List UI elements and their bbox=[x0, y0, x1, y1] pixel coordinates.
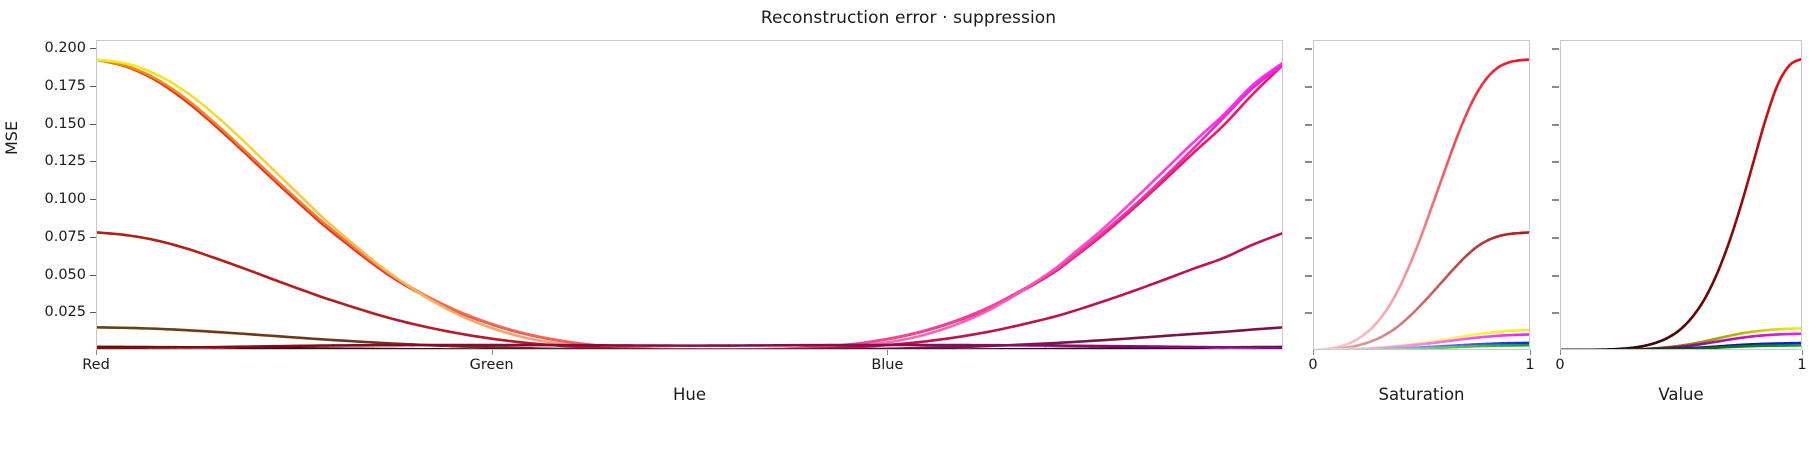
curve-segment bbox=[291, 286, 329, 300]
curve-segment bbox=[175, 330, 215, 332]
curve-segment bbox=[1701, 293, 1708, 305]
curve-segment bbox=[1411, 249, 1416, 261]
x-tick-label: Blue bbox=[871, 357, 903, 373]
y-tick-label: 0.150 bbox=[44, 116, 86, 132]
x-tick-mark bbox=[1802, 350, 1803, 355]
curve-segment bbox=[466, 318, 509, 333]
y-tick-mark-minor bbox=[1552, 124, 1559, 126]
curve-segment bbox=[141, 68, 182, 89]
curve-segment bbox=[215, 347, 255, 348]
curve-segment bbox=[333, 340, 373, 342]
x-tick-label: 0 bbox=[1308, 357, 1317, 373]
curve-segment bbox=[1505, 61, 1518, 64]
curve-segment bbox=[1085, 339, 1125, 342]
y-tick-label: 0.200 bbox=[44, 40, 86, 56]
curve-segment bbox=[1247, 65, 1283, 93]
curve-segment bbox=[1388, 296, 1395, 307]
curve-segment bbox=[176, 245, 215, 258]
curve-segment bbox=[1456, 127, 1461, 139]
curve-segment bbox=[1395, 285, 1401, 297]
curve-segment bbox=[253, 272, 291, 286]
curve-segment bbox=[426, 297, 467, 318]
x-tick-label: 1 bbox=[1797, 357, 1806, 373]
y-tick-label: 0.175 bbox=[44, 78, 86, 94]
y-tick-mark-minor bbox=[1552, 161, 1559, 163]
value-curves bbox=[1560, 40, 1802, 350]
curve-segment bbox=[1762, 117, 1766, 131]
y-tick-mark-minor bbox=[1305, 86, 1312, 88]
y-tick-mark-minor bbox=[1305, 237, 1312, 239]
y-tick-mark-minor bbox=[1305, 199, 1312, 201]
x-axis-title-saturation: Saturation bbox=[1378, 385, 1464, 404]
curve-segment bbox=[1421, 224, 1426, 236]
curve-segment bbox=[1683, 316, 1693, 326]
curve-segment bbox=[179, 94, 214, 123]
x-tick-label: 0 bbox=[1555, 357, 1564, 373]
curve-segment bbox=[282, 185, 316, 216]
curve-segment bbox=[388, 272, 426, 297]
x-tick-mark bbox=[887, 350, 888, 355]
curve-segment bbox=[927, 347, 967, 348]
curve-segment bbox=[1521, 232, 1530, 233]
curve-segment bbox=[330, 300, 369, 312]
curve-segment bbox=[215, 123, 249, 154]
y-tick-mark-minor bbox=[1305, 312, 1312, 314]
curve-segment bbox=[1517, 60, 1530, 61]
figure-title: Reconstruction error · suppression bbox=[0, 8, 1817, 28]
curve-segment bbox=[1693, 305, 1701, 317]
curve-segment bbox=[215, 332, 255, 335]
curve-segment bbox=[1406, 261, 1411, 273]
x-axis-title-value: Value bbox=[1658, 385, 1703, 404]
x-tick-mark bbox=[96, 350, 97, 355]
curve-segment bbox=[1771, 90, 1776, 103]
curve-segment bbox=[1452, 139, 1457, 151]
x-tick-label: 1 bbox=[1525, 357, 1534, 373]
curve-segment bbox=[963, 299, 1005, 318]
curve-segment bbox=[1494, 64, 1505, 71]
y-tick-mark-minor bbox=[1552, 86, 1559, 88]
y-tick-mark-minor bbox=[1305, 275, 1312, 277]
curve-segment bbox=[1434, 188, 1438, 200]
x-tick-mark bbox=[1313, 350, 1314, 355]
curve-segment bbox=[1118, 192, 1152, 222]
curve-segment bbox=[315, 218, 350, 247]
panel-saturation bbox=[1313, 40, 1530, 350]
curve-segment bbox=[1131, 278, 1169, 292]
curve-segment bbox=[1781, 65, 1789, 77]
x-tick-label: Red bbox=[82, 357, 110, 373]
curve-segment bbox=[1730, 226, 1735, 240]
curve-segment bbox=[1461, 115, 1466, 127]
curve-segment bbox=[1081, 221, 1116, 250]
y-tick-label: 0.075 bbox=[44, 229, 86, 245]
curve-segment bbox=[294, 337, 334, 340]
y-tick-mark-minor bbox=[1552, 199, 1559, 201]
curve-segment bbox=[1151, 159, 1184, 191]
curve-segment bbox=[447, 331, 487, 338]
curve-segment bbox=[136, 328, 176, 330]
curve-segment bbox=[1485, 71, 1494, 81]
x-tick-mark bbox=[1530, 350, 1531, 355]
curve-segment bbox=[1372, 318, 1381, 328]
curve-segment bbox=[1115, 186, 1148, 218]
curve-segment bbox=[1747, 172, 1751, 186]
curve-segment bbox=[1183, 126, 1215, 158]
curve-segment bbox=[1215, 93, 1247, 126]
y-tick-mark-minor bbox=[1305, 48, 1312, 50]
curve-segment bbox=[1093, 292, 1132, 305]
curve-segment bbox=[254, 335, 294, 338]
curve-segment bbox=[254, 346, 294, 347]
y-tick-mark-minor bbox=[1552, 312, 1559, 314]
figure-canvas: Reconstruction error · suppression MSE 0… bbox=[0, 0, 1817, 467]
curve-segment bbox=[1204, 330, 1244, 333]
curve-segment bbox=[1117, 190, 1151, 221]
curve-segment bbox=[487, 338, 527, 343]
curve-segment bbox=[964, 301, 1005, 321]
curve-segment bbox=[1743, 185, 1747, 199]
curve-segment bbox=[248, 154, 281, 185]
curve-segment bbox=[1472, 91, 1478, 102]
curve-segment bbox=[1080, 218, 1115, 248]
x-tick-mark bbox=[1560, 350, 1561, 355]
curve-segment bbox=[1054, 305, 1093, 317]
hue-curves bbox=[96, 40, 1283, 350]
curve-segment bbox=[408, 323, 448, 332]
curve-segment bbox=[1164, 333, 1204, 336]
curve-segment bbox=[281, 187, 315, 218]
curve-segment bbox=[1439, 175, 1443, 187]
curve-segment bbox=[96, 327, 136, 328]
y-tick-label: 0.125 bbox=[44, 153, 86, 169]
y-tick-mark-minor bbox=[1305, 161, 1312, 163]
curve-segment bbox=[1725, 240, 1730, 253]
y-tick-mark-minor bbox=[1305, 124, 1312, 126]
curve-segment bbox=[215, 258, 253, 272]
y-tick-mark-minor bbox=[1552, 48, 1559, 50]
curve-segment bbox=[1766, 103, 1770, 117]
curve-segment bbox=[492, 347, 532, 348]
panel-value bbox=[1560, 40, 1802, 350]
curve-segment bbox=[1466, 103, 1471, 115]
curve-segment bbox=[1734, 213, 1738, 227]
curve-segment bbox=[1351, 336, 1362, 342]
curve-segment bbox=[352, 243, 388, 272]
curve-segment bbox=[934, 334, 974, 340]
curve-segment bbox=[1755, 144, 1759, 158]
curve-segment bbox=[1401, 273, 1406, 285]
curve-segment bbox=[1739, 199, 1743, 213]
curve-segment bbox=[1208, 248, 1245, 264]
curve-segment bbox=[1046, 341, 1086, 343]
curve-segment bbox=[1169, 264, 1207, 278]
y-tick-label: 0.025 bbox=[44, 304, 86, 320]
panel-hue bbox=[96, 40, 1283, 350]
curve-segment bbox=[1714, 267, 1720, 280]
curve-segment bbox=[1245, 233, 1283, 248]
curve-segment bbox=[1659, 336, 1672, 342]
y-tick-mark-minor bbox=[1552, 275, 1559, 277]
curve-segment bbox=[96, 232, 136, 236]
curve-segment bbox=[1247, 63, 1283, 91]
curve-segment bbox=[1790, 59, 1802, 65]
curve-segment bbox=[284, 180, 317, 212]
curve-segment bbox=[1005, 277, 1044, 302]
curve-segment bbox=[1125, 336, 1165, 339]
y-tick-label: 0.100 bbox=[44, 191, 86, 207]
curve-segment bbox=[1430, 200, 1434, 212]
saturation-curves bbox=[1313, 40, 1530, 350]
curve-segment bbox=[1443, 163, 1447, 175]
curve-segment bbox=[1381, 307, 1388, 318]
curve-segment bbox=[1776, 77, 1782, 90]
curve-segment bbox=[426, 296, 467, 315]
curve-segment bbox=[1362, 328, 1372, 336]
curve-segment bbox=[1244, 327, 1284, 330]
curve-segment bbox=[1044, 248, 1080, 276]
curve-segment bbox=[136, 237, 176, 246]
curve-segment bbox=[1751, 158, 1755, 172]
x-tick-mark bbox=[492, 350, 493, 355]
curve-segment bbox=[1447, 151, 1451, 163]
curve-segment bbox=[974, 326, 1014, 334]
curve-segment bbox=[1758, 131, 1762, 145]
curve-segment bbox=[1708, 280, 1714, 293]
curve-segment bbox=[1416, 237, 1421, 249]
curve-segment bbox=[316, 216, 351, 245]
curve-segment bbox=[1426, 212, 1430, 224]
curve-segment bbox=[1720, 253, 1725, 266]
curve-segment bbox=[368, 312, 407, 323]
curve-segment bbox=[317, 212, 351, 242]
curve-segment bbox=[1645, 342, 1659, 346]
x-tick-label: Green bbox=[470, 357, 514, 373]
curve-segment bbox=[1014, 317, 1054, 326]
y-tick-label: 0.050 bbox=[44, 267, 86, 283]
x-axis-title-hue: Hue bbox=[673, 385, 706, 404]
y-tick-mark-minor bbox=[1552, 237, 1559, 239]
curve-segment bbox=[1672, 327, 1683, 336]
curve-segment bbox=[1631, 346, 1645, 348]
y-axis-label: MSE bbox=[2, 121, 21, 155]
curve-segment bbox=[1478, 81, 1485, 92]
